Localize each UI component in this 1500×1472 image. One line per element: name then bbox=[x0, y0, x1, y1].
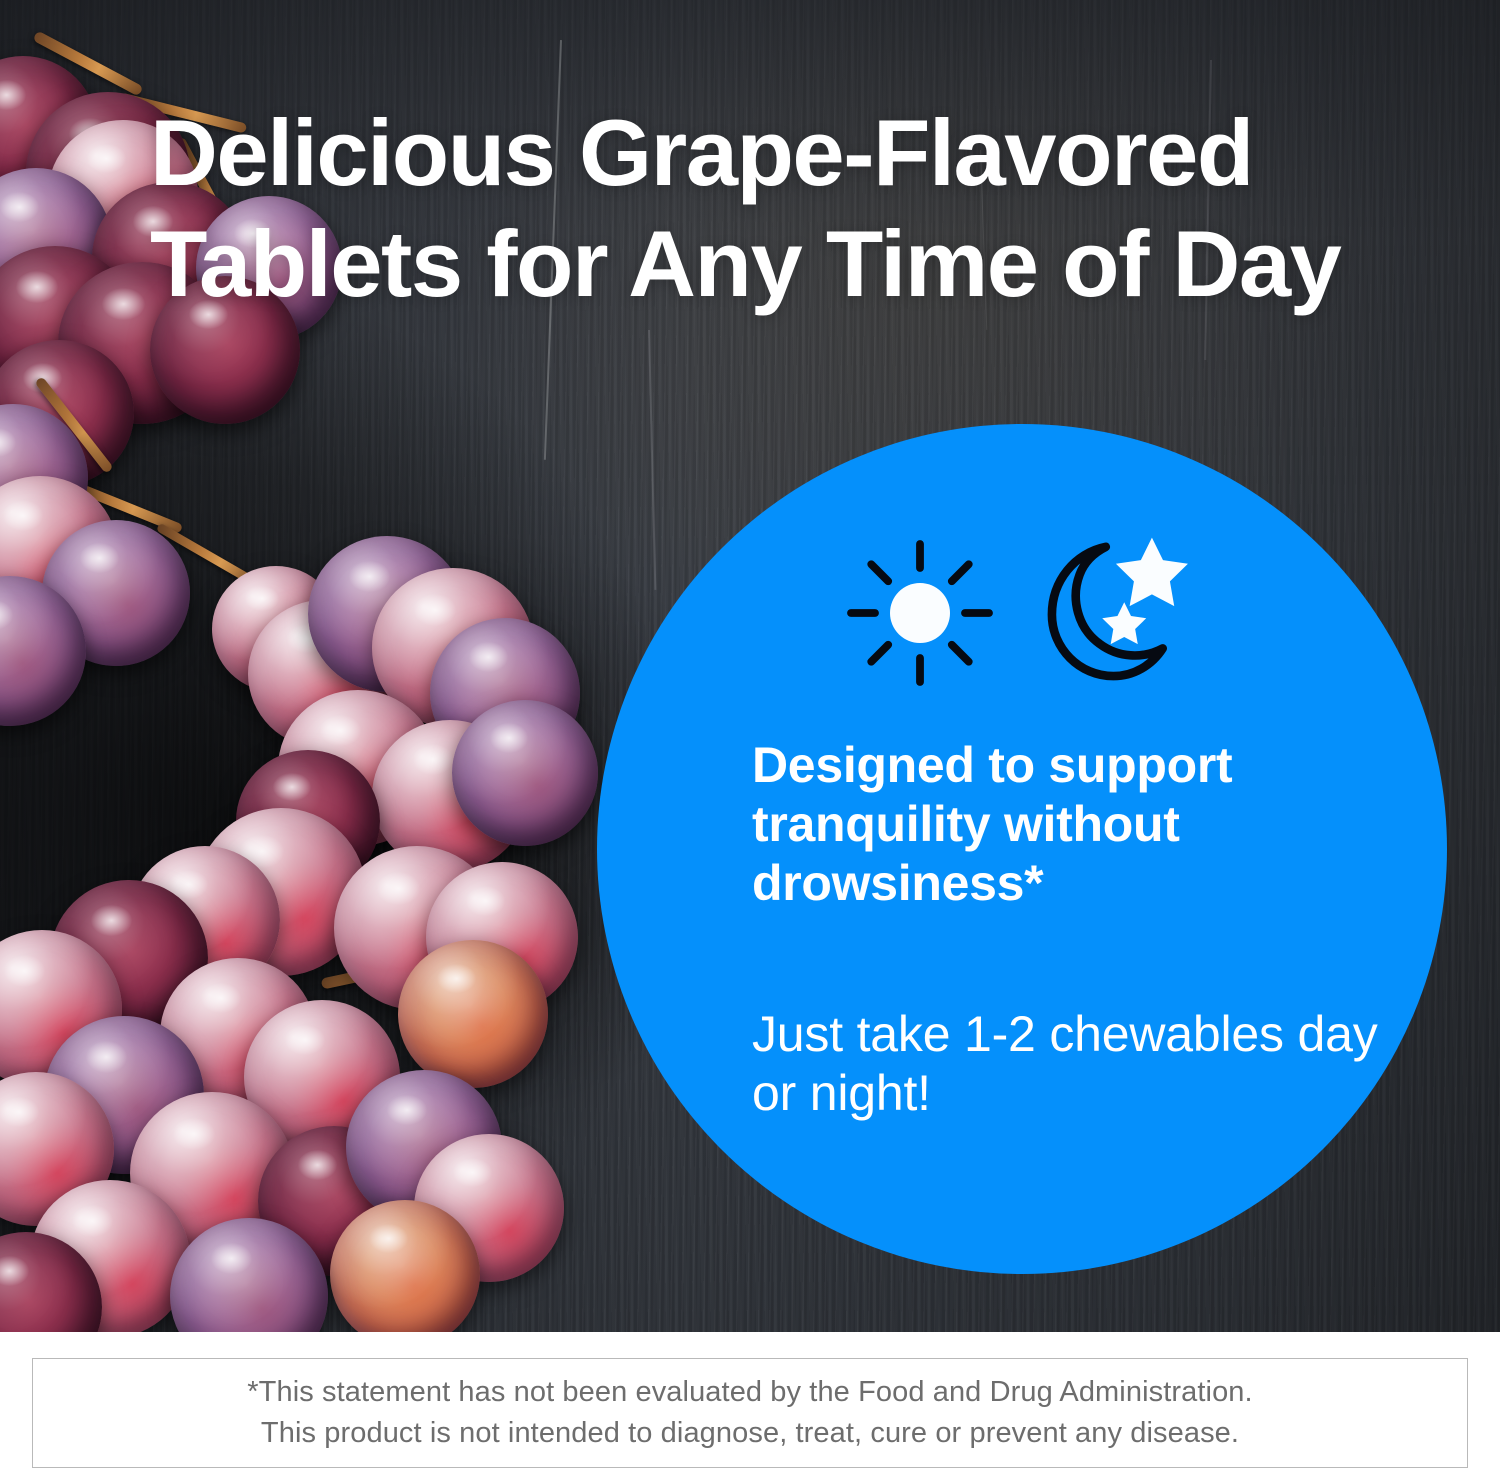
day-night-icon-row bbox=[845, 538, 1225, 688]
product-marketing-banner: Designed to support tranquility without … bbox=[0, 0, 1500, 1472]
disclaimer-line-2: This product is not intended to diagnose… bbox=[261, 1413, 1239, 1454]
badge-text-block: Designed to support tranquility without … bbox=[752, 736, 1402, 1123]
grape bbox=[398, 940, 548, 1088]
badge-primary-text: Designed to support tranquility without … bbox=[752, 736, 1402, 913]
sun-icon bbox=[845, 538, 995, 688]
grape bbox=[452, 700, 598, 846]
background-photo: Designed to support tranquility without … bbox=[0, 0, 1500, 1332]
badge-secondary-text: Just take 1-2 chewables day or night! bbox=[752, 1005, 1402, 1123]
disclaimer-line-1: *This statement has not been evaluated b… bbox=[247, 1372, 1252, 1413]
disclaimer-box: *This statement has not been evaluated b… bbox=[32, 1358, 1468, 1468]
page-title: Delicious Grape-Flavored Tablets for Any… bbox=[150, 98, 1420, 320]
blue-circle-badge: Designed to support tranquility without … bbox=[597, 424, 1447, 1274]
moon-stars-icon bbox=[1035, 534, 1195, 689]
